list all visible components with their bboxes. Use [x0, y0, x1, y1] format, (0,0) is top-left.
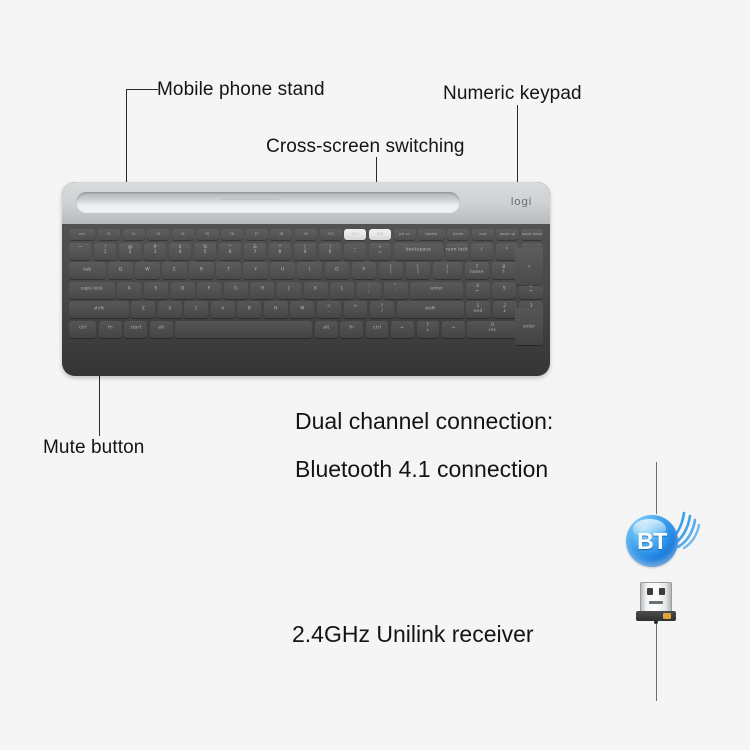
key-"-': " '	[384, 282, 408, 299]
keyboard-row-shift-row: shiftZXCVBNM< ,> .? /shift1 end2 ↓3 pg d…	[69, 301, 543, 318]
key-label: f12	[369, 233, 391, 237]
key-label: $ 4	[169, 246, 191, 256]
key-/: /	[471, 243, 493, 260]
key-fn: fn	[340, 321, 363, 338]
key-t: T	[216, 262, 240, 279]
key-label: ↑ ↓	[417, 325, 440, 335]
keyboard-row-qwerty-row: tabQWERTYUIOP{ [} ]| \7 home8 ↑9 pg up	[69, 262, 543, 279]
key-label: R	[189, 268, 213, 273]
key-alt: alt	[150, 321, 173, 338]
key-label: enter	[410, 288, 463, 293]
key-label: V	[211, 307, 235, 312]
usb-slot	[649, 601, 663, 604]
bluetooth-version-text: Bluetooth 4.1 connection	[295, 458, 548, 481]
key-↑-↓: ↑ ↓	[417, 321, 440, 338]
key-space	[175, 321, 312, 338]
keyboard-top-bezel: logi	[62, 182, 550, 224]
key-<-,: < ,	[317, 301, 341, 318]
key-s: S	[144, 282, 168, 299]
key-label: ! 1	[94, 246, 116, 256]
key-backspace: backspace	[394, 243, 443, 260]
key-@-2: @ 2	[119, 243, 141, 260]
key-2-↓: 2 ↓	[493, 301, 517, 318]
logi-logo: logi	[511, 195, 532, 208]
key-label: K	[304, 288, 328, 293]
key-label: _ -	[344, 246, 366, 256]
key-label: P	[352, 268, 376, 273]
key-8-↑: 8 ↑	[492, 262, 516, 279]
numpad-enter-key: enter	[515, 308, 543, 345]
key-num-lock: num lock	[446, 243, 468, 260]
key-r: R	[189, 262, 213, 279]
key-label: ? /	[370, 305, 394, 315]
key-f12: f12	[369, 229, 391, 240]
key-h: H	[250, 282, 274, 299]
key-*-8: * 8	[269, 243, 291, 260]
key-label: 5	[492, 288, 516, 293]
key-fn: fn	[99, 321, 122, 338]
key-0-ins: 0 ins	[467, 321, 517, 338]
key-f7: f7	[246, 229, 268, 240]
key-label: @ 2	[119, 246, 141, 256]
key-label: num lock	[446, 249, 468, 254]
key-label: | \	[433, 266, 462, 276]
keyboard-product-image: logi escf1f2f3f4f5f6f7f8f9f10f11f12prt s…	[62, 182, 550, 376]
key-label: alt	[150, 327, 173, 332]
key-label: + =	[369, 246, 391, 256]
key-shift: shift	[69, 301, 129, 318]
key-label: f2	[123, 233, 145, 237]
key-label: % 5	[194, 246, 216, 256]
key-label: 8 ↑	[492, 266, 516, 276]
key-label: f9	[295, 233, 317, 237]
key-label: page down	[521, 233, 543, 237]
key-shift: shift	[397, 301, 464, 318]
key-label: f7	[246, 233, 268, 237]
callout-label-mute-button: Mute button	[43, 438, 144, 457]
key-v: V	[211, 301, 235, 318]
key-~-`: ~ `	[69, 243, 91, 260]
key-y: Y	[243, 262, 267, 279]
key-label: 4 ←	[466, 285, 490, 295]
key-label: f3	[147, 233, 169, 237]
key-label: U	[270, 268, 294, 273]
key-u: U	[270, 262, 294, 279]
leader-line-bluetooth	[656, 462, 657, 514]
key-!-1: ! 1	[94, 243, 116, 260]
key-label: M	[290, 307, 314, 312]
key-f5: f5	[197, 229, 219, 240]
usb-receiver-pin	[654, 620, 658, 624]
dual-channel-heading: Dual channel connection:	[295, 410, 553, 433]
key-?-/: ? /	[370, 301, 394, 318]
key-label: ( 9	[294, 246, 316, 256]
key-^-6: ^ 6	[219, 243, 241, 260]
key-page-down: page down	[521, 229, 543, 240]
key-label: F	[197, 288, 221, 293]
key-label: ctrl	[366, 327, 389, 332]
key-label: fn	[340, 327, 363, 332]
key->-.: > .	[344, 301, 368, 318]
key-1-end: 1 end	[466, 301, 490, 318]
bluetooth-badge: BT	[626, 515, 678, 567]
keyboard-row-home-row: caps lockASDFGHJKL: ;" 'enter4 ←56 →	[69, 282, 543, 299]
callout-label-numeric-keypad: Numeric keypad	[443, 84, 582, 103]
key-label: < ,	[317, 305, 341, 315]
key-label: 2 ↓	[493, 305, 517, 315]
usb-receiver-chip	[663, 613, 671, 619]
callout-label-phone-stand: Mobile phone stand	[157, 80, 325, 99]
usb-receiver-icon	[634, 582, 678, 626]
key-label: & 7	[244, 246, 266, 256]
key-f3: f3	[147, 229, 169, 240]
key-f1: f1	[98, 229, 120, 240]
key-label: ←	[391, 327, 414, 332]
key-label: fn	[99, 327, 122, 332]
key-label: 0 ins	[467, 325, 517, 335]
key-_--: _ -	[344, 243, 366, 260]
key-d: D	[171, 282, 195, 299]
key-+-=: + =	[369, 243, 391, 260]
key-f: F	[197, 282, 221, 299]
key-|-\: | \	[433, 262, 462, 279]
key-label: shift	[397, 307, 464, 312]
numpad-plus-key-label: +	[515, 264, 543, 269]
key-f4: f4	[172, 229, 194, 240]
key-label: B	[237, 307, 261, 312]
key-o: O	[325, 262, 349, 279]
key-m: M	[290, 301, 314, 318]
key-label: delete	[418, 233, 444, 237]
unilink-receiver-text: 2.4GHz Unilink receiver	[292, 623, 534, 646]
key-$-4: $ 4	[169, 243, 191, 260]
key-prt-sc: prt sc	[394, 229, 416, 240]
key-f8: f8	[270, 229, 292, 240]
key-}-]: } ]	[406, 262, 430, 279]
key-q: Q	[108, 262, 132, 279]
key-c: C	[184, 301, 208, 318]
key-g: G	[224, 282, 248, 299]
key-label: L	[330, 288, 354, 293]
key-end: end	[472, 229, 494, 240]
key-label: G	[224, 288, 248, 293]
bluetooth-badge-label: BT	[626, 515, 678, 567]
key-label: 6 →	[519, 285, 543, 295]
key-l: L	[330, 282, 354, 299]
key-label: shift	[69, 307, 129, 312]
key-ctrl: ctrl	[366, 321, 389, 338]
key-label: " '	[384, 285, 408, 295]
leader-line-phone-stand-horizontal	[126, 89, 158, 90]
key-label: f5	[197, 233, 219, 237]
key-label: # 3	[144, 246, 166, 256]
callout-label-cross-screen: Cross-screen switching	[266, 137, 465, 156]
key-label: alt	[315, 327, 338, 332]
usb-connector-shell	[640, 582, 672, 612]
key-{-[: { [	[379, 262, 403, 279]
keyboard-row-bottom-row: ctrlfnstartaltaltfnctrl←↑ ↓→0 ins. del	[69, 321, 543, 338]
key-:-;: : ;	[357, 282, 381, 299]
key-p: P	[352, 262, 376, 279]
key-caps-lock: caps lock	[69, 282, 115, 299]
key-label: ~ `	[69, 246, 91, 256]
key-label: J	[277, 288, 301, 293]
key-label: Z	[131, 307, 155, 312]
key-alt: alt	[315, 321, 338, 338]
key-label: Q	[108, 268, 132, 273]
key-ctrl: ctrl	[69, 321, 96, 338]
key-f10: f10	[320, 229, 342, 240]
key-f2: f2	[123, 229, 145, 240]
numpad-plus-key: +	[515, 248, 543, 285]
key-label: f6	[221, 233, 243, 237]
key-label: prt sc	[394, 233, 416, 237]
key-label: f10	[320, 233, 342, 237]
key-delete: delete	[418, 229, 444, 240]
key-label: caps lock	[69, 288, 115, 293]
key-label: tab	[69, 268, 106, 273]
key-label: * 8	[269, 246, 291, 256]
key-e: E	[162, 262, 186, 279]
key-label: 1 end	[466, 305, 490, 315]
key-f9: f9	[295, 229, 317, 240]
key-#-3: # 3	[144, 243, 166, 260]
key-f11: f11	[344, 229, 366, 240]
keyboard-row-number-row: ~ `! 1@ 2# 3$ 4% 5^ 6& 7* 8( 9) 0_ -+ =b…	[69, 243, 543, 260]
key-4-←: 4 ←	[466, 282, 490, 299]
key-label: f4	[172, 233, 194, 237]
key-label: ^ 6	[219, 246, 241, 256]
key-label: : ;	[357, 285, 381, 295]
keyboard-key-deck: escf1f2f3f4f5f6f7f8f9f10f11f12prt scdele…	[62, 224, 550, 376]
key-a: A	[117, 282, 141, 299]
key-←: ←	[391, 321, 414, 338]
key-label: ctrl	[69, 327, 96, 332]
key-label: home	[447, 233, 469, 237]
key-label: C	[184, 307, 208, 312]
phone-stand-notch	[220, 196, 280, 200]
key-label: f8	[270, 233, 292, 237]
key-label: →	[442, 327, 465, 332]
key-(-9: ( 9	[294, 243, 316, 260]
key-&-7: & 7	[244, 243, 266, 260]
key-)-0: ) 0	[319, 243, 341, 260]
numpad-enter-key-label: enter	[515, 324, 543, 329]
key-label: D	[171, 288, 195, 293]
key-i: I	[297, 262, 321, 279]
key-f6: f6	[221, 229, 243, 240]
key-label: f1	[98, 233, 120, 237]
key-enter: enter	[410, 282, 463, 299]
key-label: W	[135, 268, 159, 273]
key-label: start	[124, 327, 147, 332]
key-5: 5	[492, 282, 516, 299]
leader-line-usb-receiver	[656, 621, 657, 701]
usb-prong-right	[659, 588, 665, 595]
key-label: H	[250, 288, 274, 293]
key-label: end	[472, 233, 494, 237]
key-label: O	[325, 268, 349, 273]
key-x: X	[158, 301, 182, 318]
infographic-canvas: Mobile phone stand Cross-screen switchin…	[0, 0, 750, 750]
key-label: backspace	[394, 249, 443, 254]
key-b: B	[237, 301, 261, 318]
key-label: A	[117, 288, 141, 293]
key-label: S	[144, 288, 168, 293]
key-label: X	[158, 307, 182, 312]
key-start: start	[124, 321, 147, 338]
key-tab: tab	[69, 262, 106, 279]
key-label: f11	[344, 233, 366, 237]
key-z: Z	[131, 301, 155, 318]
key-label: esc	[69, 233, 95, 237]
key-label: page up	[496, 233, 518, 237]
key-label: ) 0	[319, 246, 341, 256]
usb-prong-left	[647, 588, 653, 595]
key-home: home	[447, 229, 469, 240]
key-k: K	[304, 282, 328, 299]
keyboard-row-function-row: escf1f2f3f4f5f6f7f8f9f10f11f12prt scdele…	[69, 229, 543, 240]
key-label: T	[216, 268, 240, 273]
key-label: N	[264, 307, 288, 312]
key-label: E	[162, 268, 186, 273]
key-esc: esc	[69, 229, 95, 240]
key-label: } ]	[406, 266, 430, 276]
key-label: Y	[243, 268, 267, 273]
key-%-5: % 5	[194, 243, 216, 260]
key-→: →	[442, 321, 465, 338]
key-j: J	[277, 282, 301, 299]
key-7-home: 7 home	[465, 262, 489, 279]
key-w: W	[135, 262, 159, 279]
key-label: { [	[379, 266, 403, 276]
key-label: /	[471, 249, 493, 254]
key-n: N	[264, 301, 288, 318]
key-label: > .	[344, 305, 368, 315]
key-label: 7 home	[465, 266, 489, 276]
key-page-up: page up	[496, 229, 518, 240]
key-label: I	[297, 268, 321, 273]
